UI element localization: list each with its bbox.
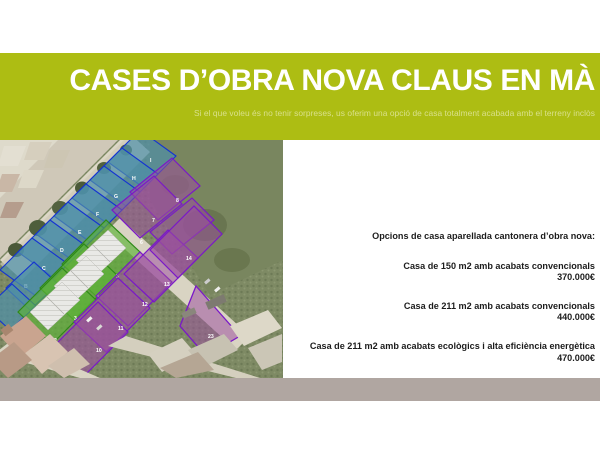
parcel-label: 14 [186,256,192,262]
offer-item: Casa de 211 m2 amb acabats convencionals… [265,302,595,322]
offers-heading: Opcions de casa aparellada cantonera d’o… [265,232,595,241]
parcel-label: 11 [118,326,124,332]
offer-description: Casa de 150 m2 amb acabats convencionals [265,262,595,271]
offers-panel: Opcions de casa aparellada cantonera d’o… [265,232,595,363]
offer-item: Casa de 211 m2 amb acabats ecològics i a… [265,342,595,362]
page-subtitle: Si el que voleu és no tenir sorpreses, u… [0,108,595,118]
offer-description: Casa de 211 m2 amb acabats ecològics i a… [265,342,595,351]
map-vegetation [214,248,250,272]
map-layers: I H G F E D C B A [0,140,283,378]
offer-price: 440.000€ [265,313,595,322]
parcel-label: 7 [152,218,155,224]
header-banner: CASES D’OBRA NOVA CLAUS EN MÀ Si el que … [0,53,600,140]
parcel-label: 8 [176,198,179,204]
parcel-label: F [96,212,99,218]
slide-canvas: CASES D’OBRA NOVA CLAUS EN MÀ Si el que … [0,0,600,460]
offer-price: 370.000€ [265,273,595,282]
parcel-label: 6 [140,240,143,246]
footer-bar [0,378,600,401]
page-title: CASES D’OBRA NOVA CLAUS EN MÀ [0,65,595,97]
parcel-label: 10 [96,348,102,354]
parcel-label: E [78,230,82,236]
parcel-label: D [60,248,64,254]
parcel-label: 12 [142,302,148,308]
offer-item: Casa de 150 m2 amb acabats convencionals… [265,262,595,282]
map-graphic: I H G F E D C B A [0,140,283,378]
aerial-plot-map: I H G F E D C B A [0,140,283,378]
parcel-label: G [114,194,118,200]
offer-description: Casa de 211 m2 amb acabats convencionals [265,302,595,311]
offer-price: 470.000€ [265,354,595,363]
parcel-label: H [132,176,136,182]
parcel-label: 13 [164,282,170,288]
